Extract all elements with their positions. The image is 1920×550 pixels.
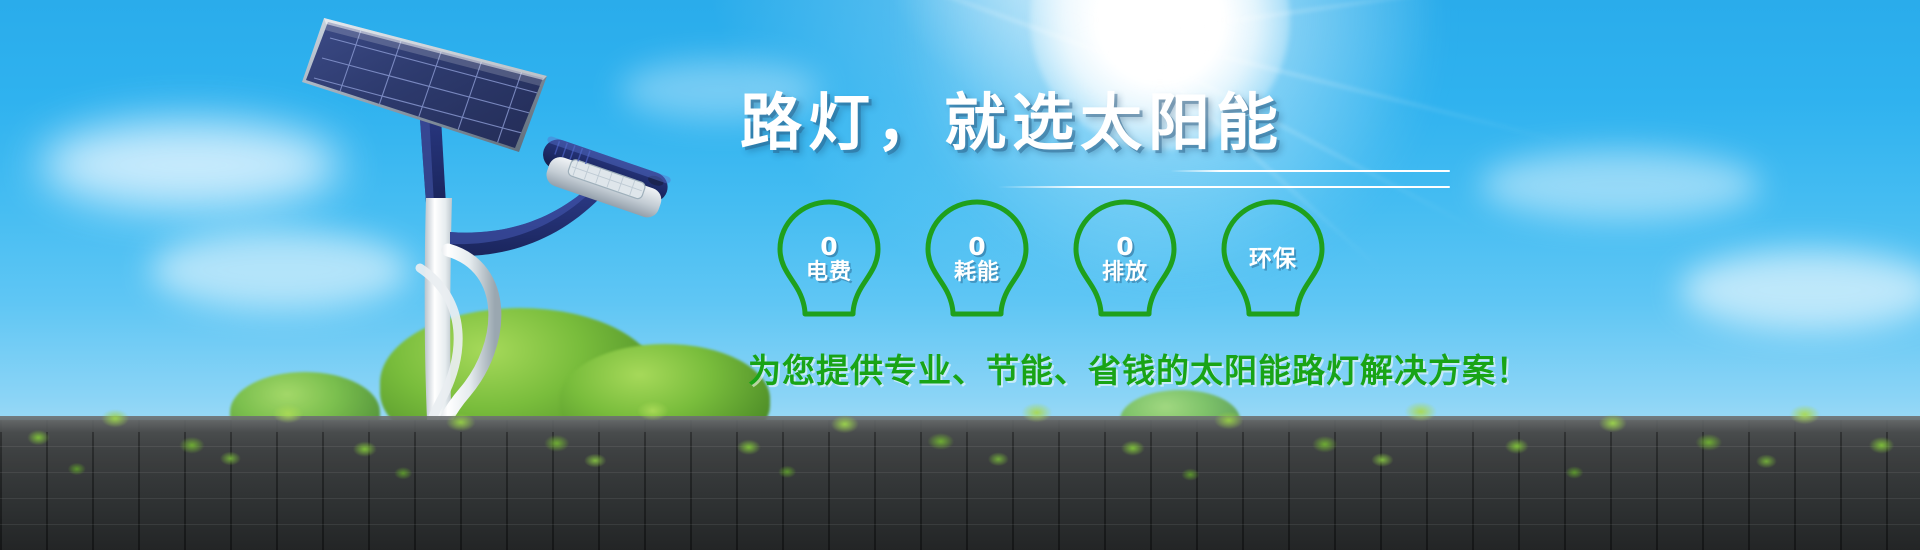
badge-zero: 0 — [1116, 234, 1133, 260]
badge-eco-friendly: 环保 — [1212, 196, 1334, 322]
ivy-vines-lower — [0, 420, 1920, 490]
badge-electric-bill: 0 电费 — [768, 196, 890, 322]
badge-text: 0 排放 — [1102, 234, 1148, 284]
badge-word: 电费 — [806, 261, 852, 284]
divider-line-bottom — [998, 186, 1450, 188]
divider-group — [740, 164, 1520, 198]
copy-block: 路灯，就选太阳能 — [740, 92, 1520, 198]
divider-line-top — [1170, 170, 1450, 172]
badge-text: 0 耗能 — [954, 234, 1000, 284]
page-title: 路灯，就选太阳能 — [740, 92, 1520, 154]
badge-zero: 0 — [820, 234, 837, 260]
badge-energy-use: 0 耗能 — [916, 196, 1038, 322]
led-lamp-head — [534, 135, 672, 221]
badge-text: 环保 — [1249, 247, 1297, 271]
badge-text: 0 电费 — [806, 234, 852, 284]
badge-word: 环保 — [1249, 247, 1297, 271]
badge-word: 耗能 — [954, 261, 1000, 284]
solar-street-lamp-banner: 路灯，就选太阳能 0 电费 0 耗能 — [0, 0, 1920, 550]
badge-zero: 0 — [968, 234, 985, 260]
cloud-icon — [1480, 150, 1760, 220]
badge-emissions: 0 排放 — [1064, 196, 1186, 322]
tagline: 为您提供专业、节能、省钱的太阳能路灯解决方案！ — [748, 344, 1530, 392]
feature-badge-list: 0 电费 0 耗能 0 排放 — [768, 196, 1468, 322]
cloud-icon — [40, 120, 340, 210]
badge-word: 排放 — [1102, 261, 1148, 284]
